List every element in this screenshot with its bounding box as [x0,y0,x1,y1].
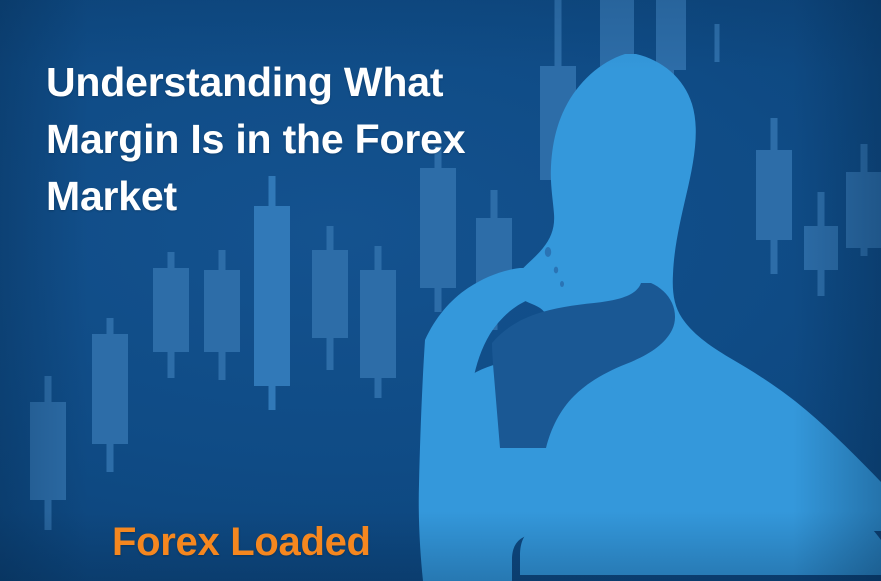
page-title: Understanding What Margin Is in the Fore… [46,54,476,225]
text-overlay: Understanding What Margin Is in the Fore… [0,0,881,581]
brand-wordmark: Forex Loaded [112,519,371,565]
forex-article-banner: Understanding What Margin Is in the Fore… [0,0,881,581]
